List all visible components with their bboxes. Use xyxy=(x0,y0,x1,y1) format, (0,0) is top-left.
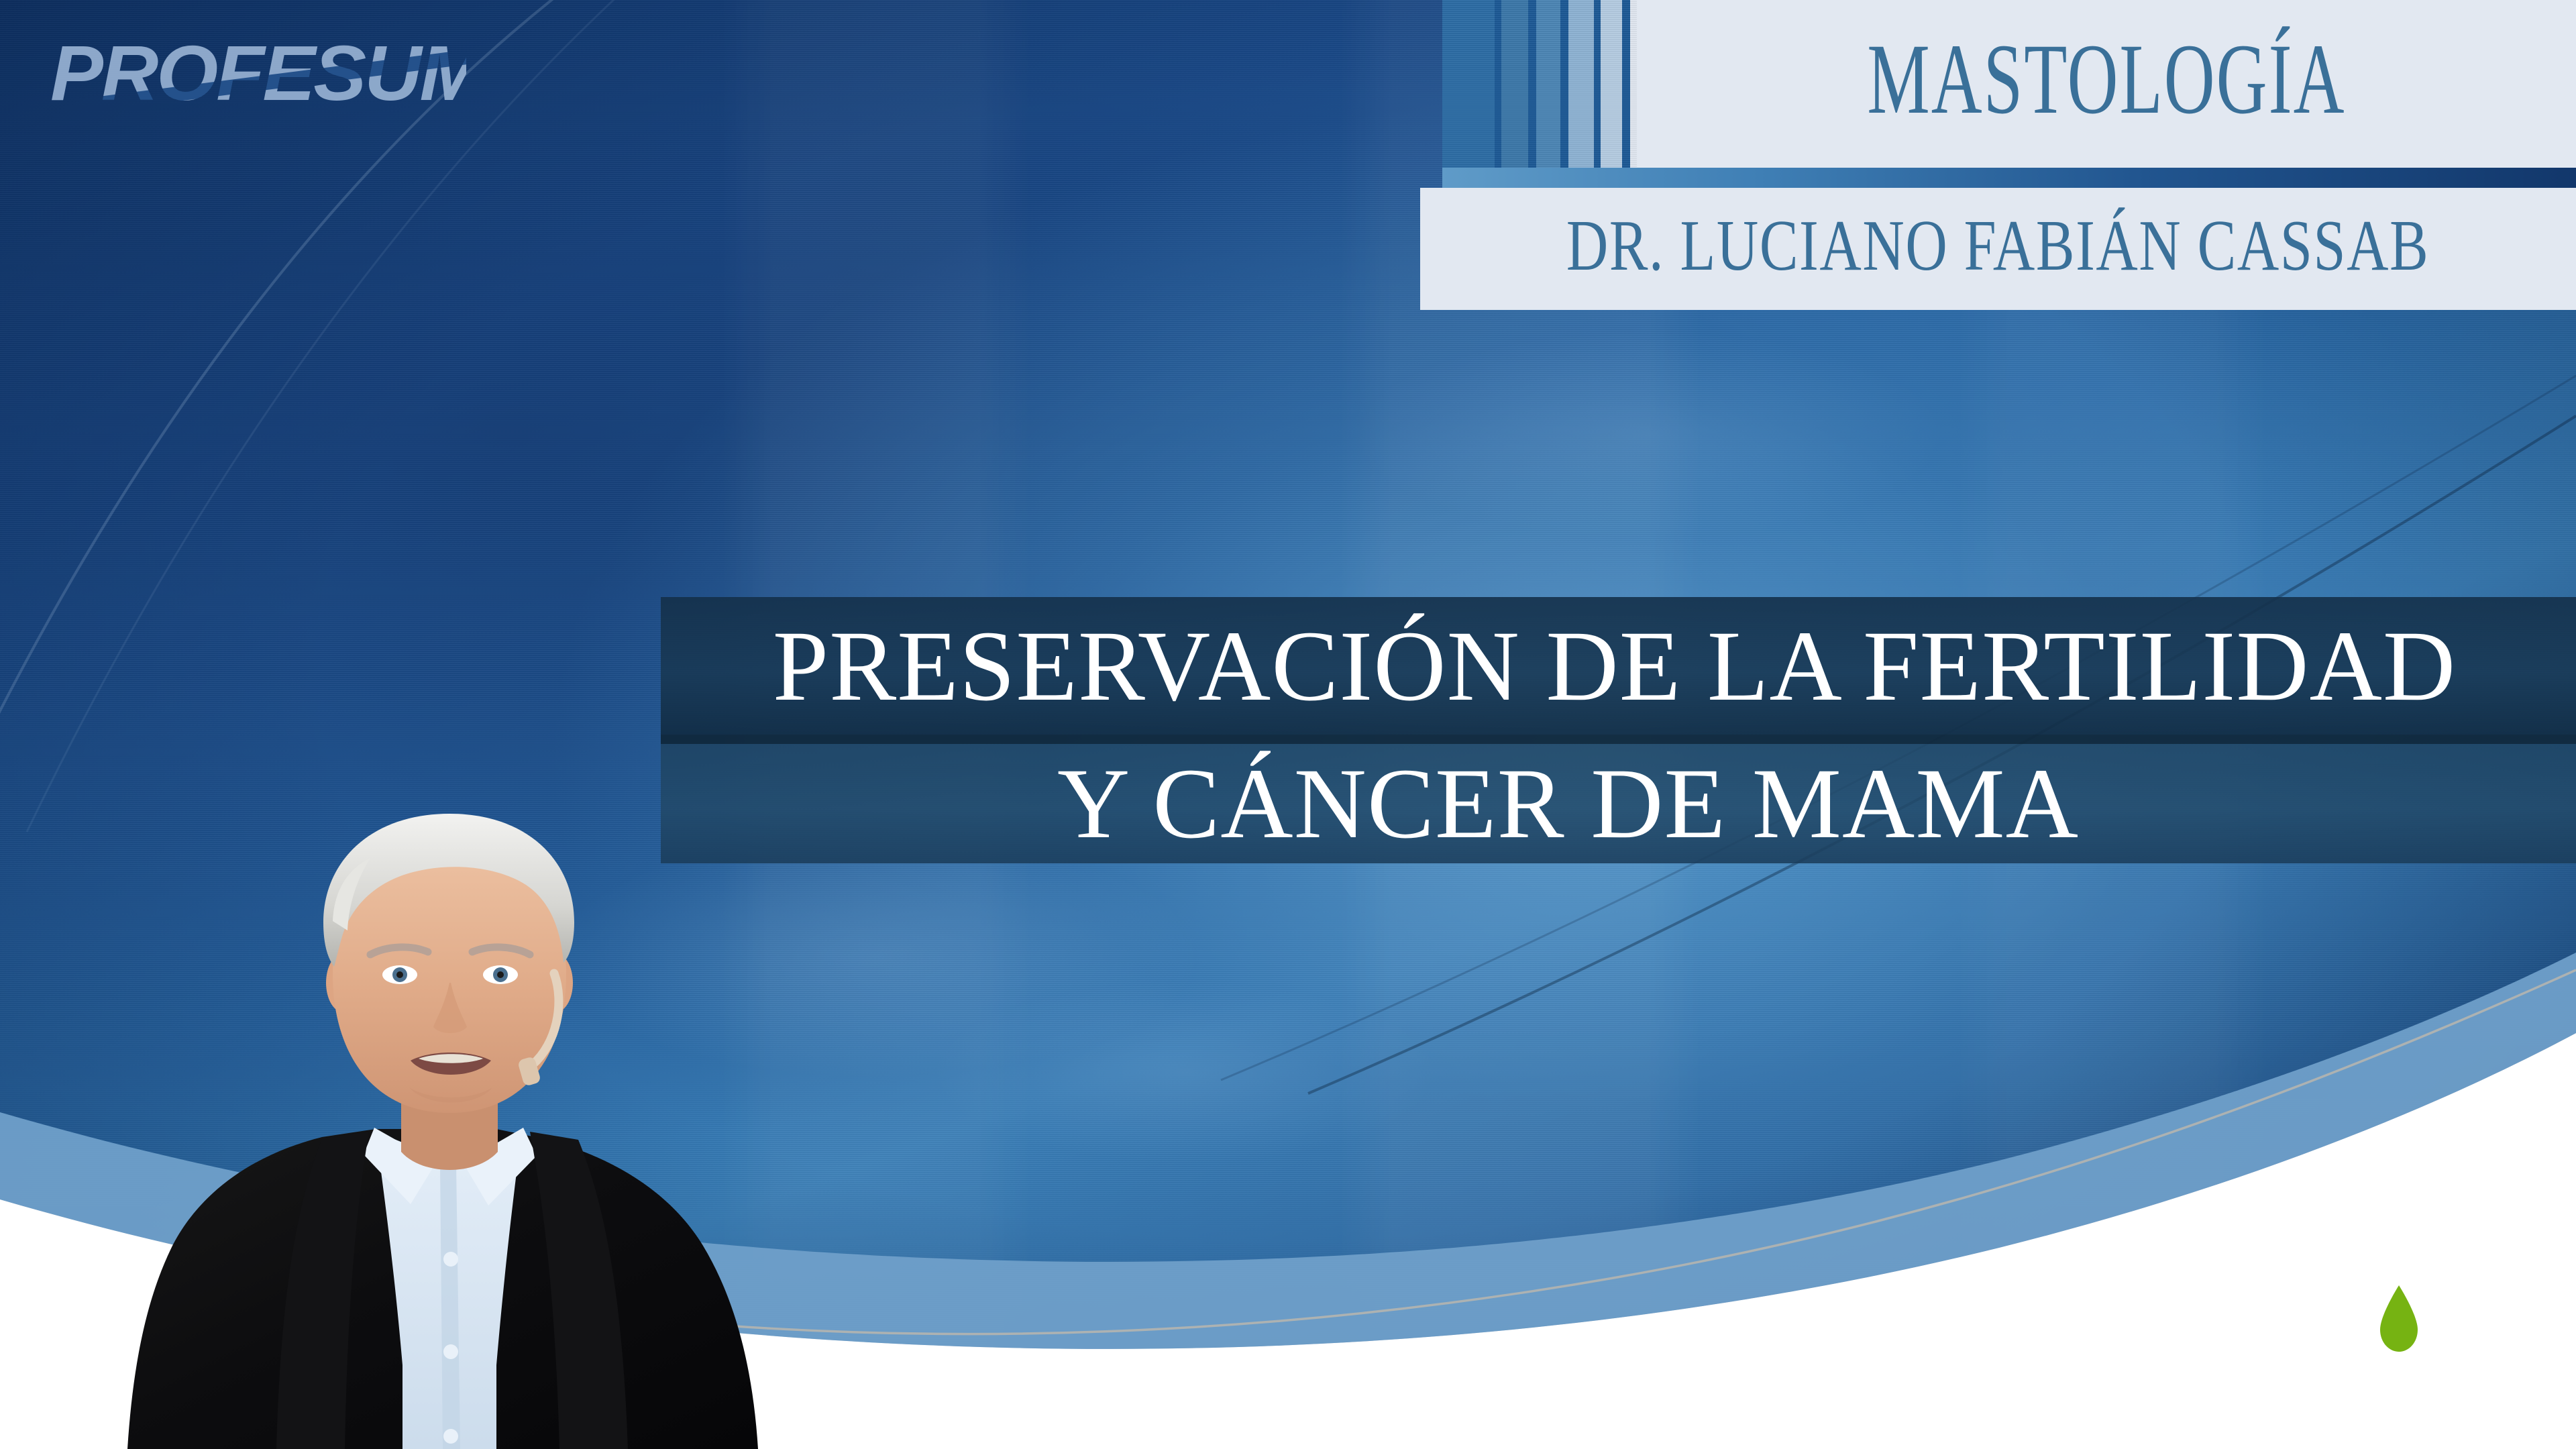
presenter-name-banner: DR. LUCIANO FABIÁN CASSAB xyxy=(1420,188,2576,310)
slide-canvas: PROFESUM MASTOLOGÍA DR. LUCIANO FABIÁN C… xyxy=(0,0,2576,1449)
presenter-name: DR. LUCIANO FABIÁN CASSAB xyxy=(1566,205,2430,293)
title-band-secondary: Y CÁNCER DE MAMA xyxy=(661,744,2576,863)
title-line-1: PRESERVACIÓN DE LA FERTILIDAD xyxy=(661,616,2576,716)
water-drop-icon xyxy=(2375,1284,2423,1354)
header-stripe-decor xyxy=(1442,0,1637,168)
title-line-2: Y CÁNCER DE MAMA xyxy=(661,753,2576,854)
header-panel: MASTOLOGÍA xyxy=(1442,0,2576,168)
header-divider-bar xyxy=(1442,168,2576,188)
title-band-separator xyxy=(661,735,2576,744)
profesum-logo: PROFESUM xyxy=(50,30,466,117)
presenter-portrait xyxy=(121,761,765,1449)
title-band-primary: PRESERVACIÓN DE LA FERTILIDAD xyxy=(661,597,2576,735)
specialty-title: MASTOLOGÍA xyxy=(1778,0,2435,168)
